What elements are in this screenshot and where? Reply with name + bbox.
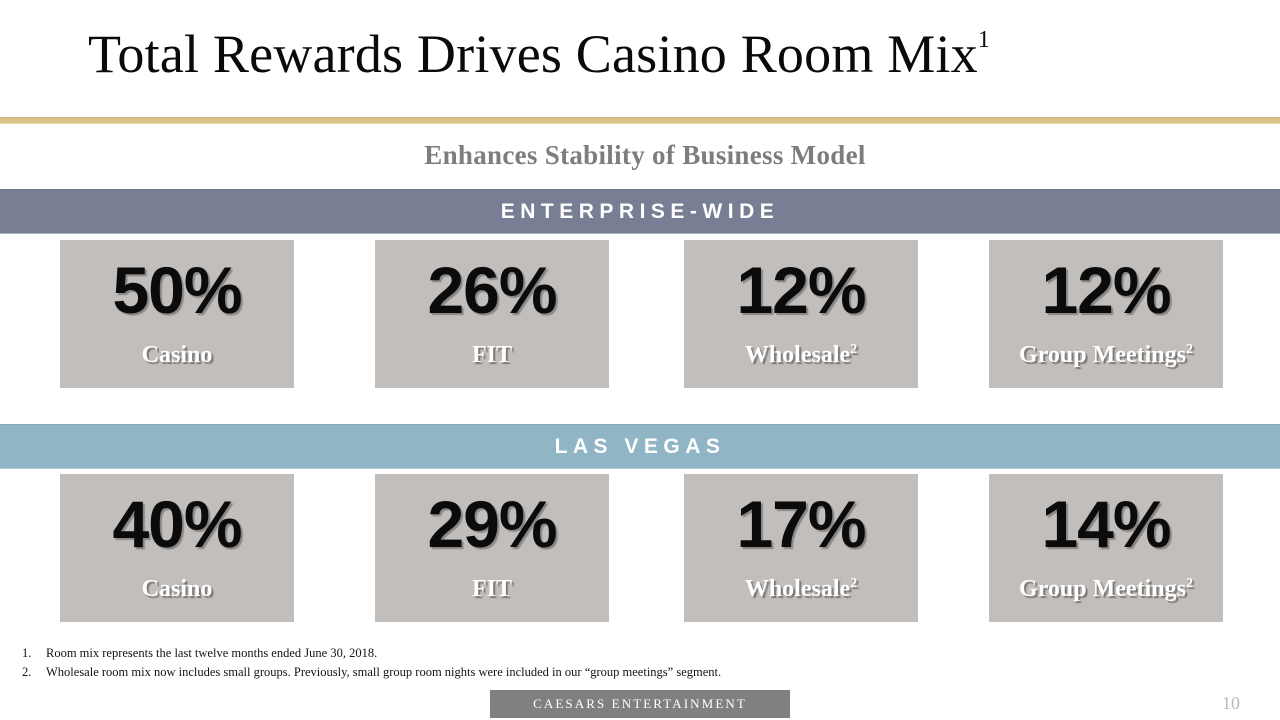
stat-label-text: Casino <box>142 342 213 368</box>
company-logo: CAESARS ENTERTAINMENT <box>490 690 790 718</box>
company-logo-text: CAESARS ENTERTAINMENT <box>533 696 747 712</box>
page-subtitle: Enhances Stability of Business Model <box>0 140 1280 171</box>
stat-label-footnote-marker: 2 <box>850 342 857 357</box>
stat-value: 12% <box>1041 257 1170 323</box>
page-title-text: Total Rewards Drives Casino Room Mix <box>88 24 978 84</box>
stat-card: 50% Casino <box>60 240 294 388</box>
page-title: Total Rewards Drives Casino Room Mix1 <box>88 26 990 83</box>
stat-label: Casino <box>142 342 213 369</box>
stat-label-text: Wholesale <box>745 342 850 368</box>
page-title-footnote-marker: 1 <box>978 27 990 53</box>
stat-label: FIT <box>472 342 512 369</box>
stat-label-footnote-marker: 2 <box>1186 342 1193 357</box>
stat-label-footnote-marker: 2 <box>1186 576 1193 591</box>
footnote-text: Wholesale room mix now includes small gr… <box>46 663 721 682</box>
footnotes: 1. Room mix represents the last twelve m… <box>18 644 721 682</box>
section-band-las-vegas: LAS VEGAS <box>0 424 1280 469</box>
stat-value: 50% <box>112 257 241 323</box>
gold-divider <box>0 117 1280 124</box>
stat-label-text: Group Meetings <box>1019 576 1186 602</box>
footnote-number: 1. <box>18 644 46 663</box>
footnote-number: 2. <box>18 663 46 682</box>
stat-value: 29% <box>427 491 556 557</box>
stat-card: 29% FIT <box>375 474 609 622</box>
stat-card: 12% Wholesale2 <box>684 240 918 388</box>
stat-value: 40% <box>112 491 241 557</box>
stat-card-row-las-vegas: 40% Casino 29% FIT 17% Wholesale2 14% Gr… <box>0 474 1280 624</box>
stat-label: Wholesale2 <box>745 576 857 603</box>
stat-label: Group Meetings2 <box>1019 342 1193 369</box>
stat-card: 14% Group Meetings2 <box>989 474 1223 622</box>
section-band-label: ENTERPRISE-WIDE <box>501 200 780 224</box>
stat-label: FIT <box>472 576 512 603</box>
footnote-item: 2. Wholesale room mix now includes small… <box>18 663 721 682</box>
stat-card: 26% FIT <box>375 240 609 388</box>
stat-label-text: Casino <box>142 576 213 602</box>
stat-value: 14% <box>1041 491 1170 557</box>
stat-card-row-enterprise-wide: 50% Casino 26% FIT 12% Wholesale2 12% Gr… <box>0 240 1280 390</box>
footnote-item: 1. Room mix represents the last twelve m… <box>18 644 721 663</box>
stat-label-text: FIT <box>472 576 512 602</box>
stat-value: 12% <box>736 257 865 323</box>
stat-card: 12% Group Meetings2 <box>989 240 1223 388</box>
stat-card: 17% Wholesale2 <box>684 474 918 622</box>
stat-label-footnote-marker: 2 <box>850 576 857 591</box>
stat-label: Group Meetings2 <box>1019 576 1193 603</box>
section-band-label: LAS VEGAS <box>555 435 726 459</box>
stat-value: 17% <box>736 491 865 557</box>
stat-label: Casino <box>142 576 213 603</box>
stat-label: Wholesale2 <box>745 342 857 369</box>
stat-label-text: Wholesale <box>745 576 850 602</box>
page-number: 10 <box>1222 693 1240 714</box>
section-band-enterprise-wide: ENTERPRISE-WIDE <box>0 189 1280 234</box>
stat-value: 26% <box>427 257 556 323</box>
footnote-text: Room mix represents the last twelve mont… <box>46 644 377 663</box>
stat-label-text: Group Meetings <box>1019 342 1186 368</box>
stat-label-text: FIT <box>472 342 512 368</box>
stat-card: 40% Casino <box>60 474 294 622</box>
